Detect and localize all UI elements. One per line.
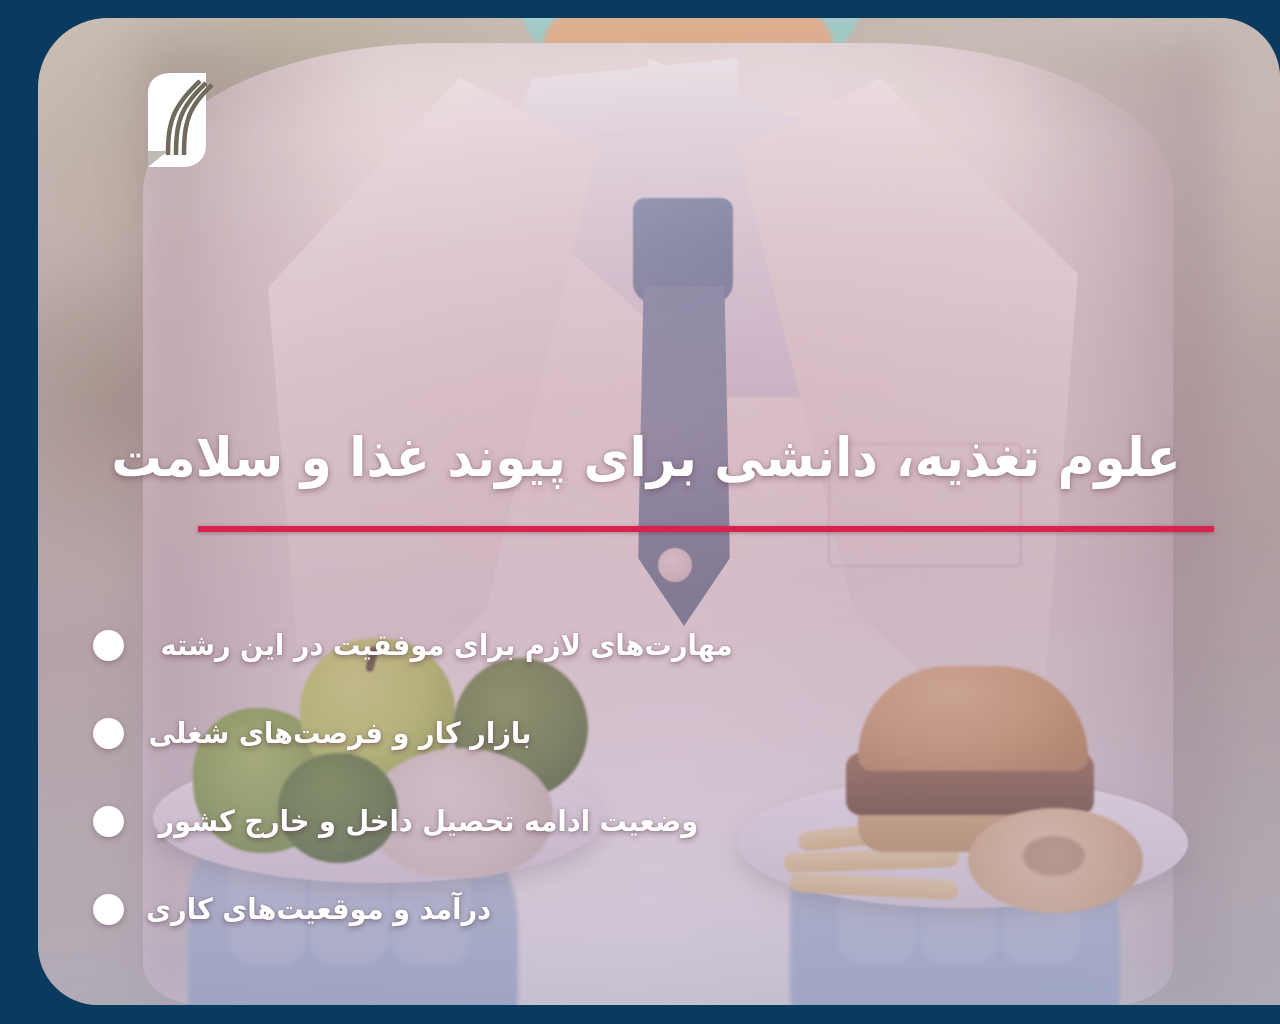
list-item-label: بازار کار و فرصت‌های شغلی	[148, 715, 531, 751]
bullet-dot-icon	[93, 894, 124, 925]
list-item-label: درآمد و موقعیت‌های کاری	[146, 891, 491, 927]
bullet-dot-icon	[93, 630, 124, 661]
photo-stage: علوم تغذیه، دانشی برای پیوند غذا و سلامت…	[38, 18, 1280, 1005]
page-title: علوم تغذیه، دانشی برای پیوند غذا و سلامت	[137, 426, 1180, 490]
list-item[interactable]: مهارت‌های لازم برای موفقیت در این رشته	[93, 614, 1038, 676]
bullet-dot-icon	[93, 718, 124, 749]
poster-root: علوم تغذیه، دانشی برای پیوند غذا و سلامت…	[0, 0, 1280, 1024]
list-item[interactable]: درآمد و موقعیت‌های کاری	[93, 878, 1038, 940]
list-item-label: مهارت‌های لازم برای موفقیت در این رشته	[161, 627, 733, 663]
poster-content: علوم تغذیه، دانشی برای پیوند غذا و سلامت…	[38, 18, 1280, 1005]
stylized-leaf-book-logo-icon[interactable]	[138, 71, 216, 169]
bullet-dot-icon	[93, 806, 124, 837]
title-divider	[198, 526, 1214, 532]
list-item[interactable]: وضعیت ادامه تحصیل داخل و خارج کشور	[93, 790, 1038, 852]
feature-bullet-list: مهارت‌های لازم برای موفقیت در این رشته ب…	[38, 614, 1038, 966]
list-item[interactable]: بازار کار و فرصت‌های شغلی	[93, 702, 1038, 764]
list-item-label: وضعیت ادامه تحصیل داخل و خارج کشور	[158, 803, 698, 839]
